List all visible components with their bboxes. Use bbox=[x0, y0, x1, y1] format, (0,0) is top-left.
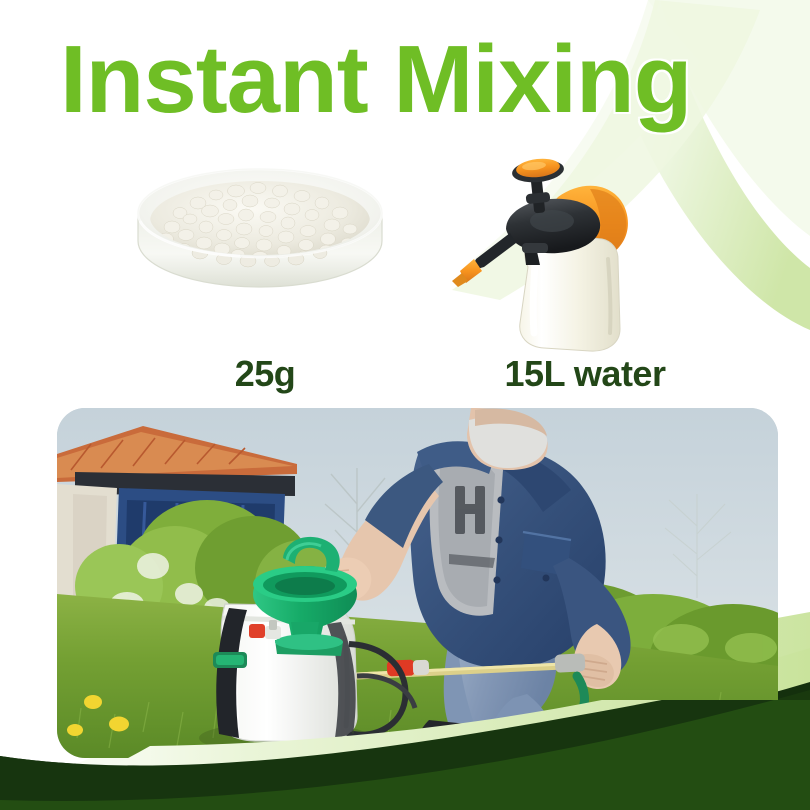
ingredient-water-caption: 15L water bbox=[440, 353, 730, 395]
pump-sprayer-bottle-image bbox=[440, 155, 730, 355]
gardener-spraying-lawn-photo bbox=[57, 408, 778, 758]
page-title: Instant Mixing bbox=[60, 30, 760, 131]
ingredient-granules: 25g bbox=[120, 155, 410, 355]
ingredient-granules-caption: 25g bbox=[120, 353, 410, 395]
petri-dish-granules-image bbox=[120, 155, 410, 355]
ingredients-row: 25g bbox=[0, 155, 810, 395]
poster-canvas: Instant Mixing bbox=[0, 0, 810, 810]
ingredient-water: 15L water bbox=[440, 155, 730, 355]
